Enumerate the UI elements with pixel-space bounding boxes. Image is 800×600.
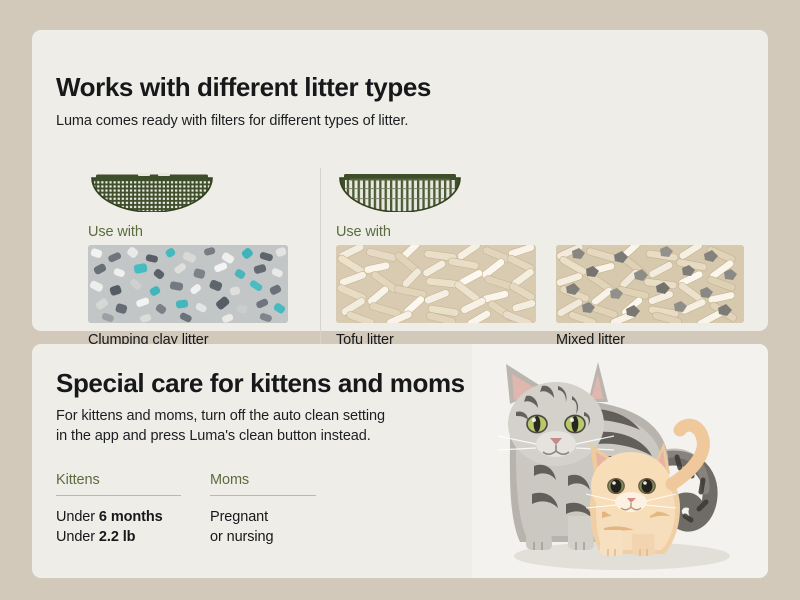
spec-heading-moms: Moms: [210, 472, 316, 488]
page-title: Works with different litter types: [56, 72, 431, 103]
spec-rule-kittens: [56, 495, 181, 496]
tofu-litter-swatch: [336, 245, 536, 323]
spec-line: or nursing: [210, 527, 316, 547]
slatted-filter-icon: [336, 168, 464, 212]
use-with-label-slats: Use with: [336, 224, 391, 240]
litter-types-card: Works with different litter types Luma c…: [32, 30, 768, 331]
product-info-page: Works with different litter types Luma c…: [0, 0, 800, 600]
special-care-title: Special care for kittens and moms: [56, 368, 465, 399]
clumping-clay-litter-swatch: [88, 245, 288, 323]
spec-line-prefix: Under: [56, 509, 99, 525]
spec-line: Under 2.2 lb: [56, 527, 181, 547]
cats-photo: [472, 344, 768, 578]
use-with-label-mesh: Use with: [88, 224, 143, 240]
spec-line-prefix: or nursing: [210, 529, 273, 545]
mesh-filter-icon: [88, 168, 216, 212]
spec-line-emphasis: 2.2 lb: [99, 529, 135, 545]
spec-line-prefix: Under: [56, 529, 99, 545]
spec-line-prefix: Pregnant: [210, 509, 268, 525]
spec-column-kittens: Kittens Under 6 months Under 2.2 lb: [56, 472, 181, 547]
mixed-litter-swatch: [556, 245, 744, 323]
spec-heading-kittens: Kittens: [56, 472, 181, 488]
special-care-subtitle: For kittens and moms, turn off the auto …: [56, 406, 385, 446]
spec-line: Under 6 months: [56, 507, 181, 527]
special-care-card: Special care for kittens and moms For ki…: [32, 344, 768, 578]
litter-card-subtitle: Luma comes ready with filters for differ…: [56, 111, 408, 131]
spec-column-moms: Moms Pregnant or nursing: [210, 472, 316, 547]
spec-line-emphasis: 6 months: [99, 509, 163, 525]
spec-line: Pregnant: [210, 507, 316, 527]
column-divider: [320, 168, 321, 346]
spec-rule-moms: [210, 495, 316, 496]
